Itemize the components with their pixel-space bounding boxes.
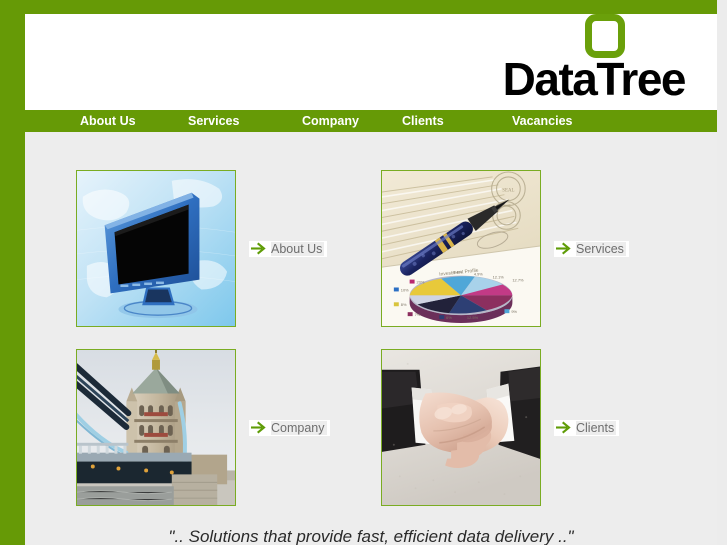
arrow-right-icon: [555, 421, 572, 434]
svg-text:7%: 7%: [415, 312, 421, 317]
tile-link-clients[interactable]: Clients: [554, 420, 619, 436]
tagline: ".. Solutions that provide fast, efficie…: [25, 527, 717, 545]
svg-text:4.9%: 4.9%: [474, 272, 483, 277]
tile-about-us: About Us: [76, 170, 381, 327]
tile-link-services[interactable]: Services: [554, 241, 629, 257]
nav-item-vacancies[interactable]: Vacancies: [512, 115, 572, 128]
nav-item-services[interactable]: Services: [188, 115, 302, 128]
arrow-right-icon: [555, 242, 572, 255]
page-root: DataTree About Us Services Company Clien…: [0, 0, 727, 545]
tile-link-company[interactable]: Company: [249, 420, 330, 436]
svg-text:20%: 20%: [417, 280, 425, 285]
thumbnail-handshake[interactable]: [381, 349, 541, 506]
tile-label-clients: Clients: [576, 421, 616, 435]
tile-row: Company: [76, 349, 686, 506]
arrow-right-icon: [250, 242, 267, 255]
left-green-bar: [0, 0, 25, 545]
main-navigation: About Us Services Company Clients Vacanc…: [25, 110, 717, 132]
nav-item-about-us[interactable]: About Us: [80, 115, 188, 128]
green-rounded-square-icon: [585, 14, 625, 58]
svg-text:10%: 10%: [401, 287, 409, 292]
tile-label-services: Services: [576, 242, 626, 256]
tile-grid: About Us: [76, 170, 686, 506]
logo-wordmark: DataTree: [503, 56, 685, 102]
tile-clients: Clients: [381, 349, 686, 506]
nav-item-clients[interactable]: Clients: [402, 115, 512, 128]
svg-text:SEAL: SEAL: [502, 189, 514, 194]
svg-text:6.4%: 6.4%: [453, 270, 462, 275]
tile-company: Company: [76, 349, 381, 506]
thumbnail-monitor[interactable]: [76, 170, 236, 327]
nav-item-company[interactable]: Company: [302, 115, 402, 128]
thumbnail-tower-bridge[interactable]: [76, 349, 236, 506]
tile-label-about-us: About Us: [271, 242, 324, 256]
right-gutter: [717, 0, 727, 545]
tile-link-about-us[interactable]: About Us: [249, 241, 327, 257]
site-header: DataTree: [25, 14, 717, 110]
top-green-bar: [0, 0, 717, 14]
svg-text:12.1%: 12.1%: [493, 275, 505, 280]
tile-row: About Us: [76, 170, 686, 327]
thumbnail-pen-documents[interactable]: SEAL Investment Profile: [381, 170, 541, 327]
main-content: About Us: [25, 132, 717, 545]
svg-text:9%: 9%: [511, 309, 517, 314]
svg-text:12.5%: 12.5%: [467, 315, 479, 320]
tile-services: SEAL Investment Profile: [381, 170, 686, 327]
arrow-right-icon: [250, 421, 267, 434]
svg-text:12.7%: 12.7%: [512, 278, 524, 283]
site-logo[interactable]: DataTree: [503, 24, 685, 102]
tile-label-company: Company: [271, 421, 327, 435]
svg-text:8%: 8%: [401, 302, 407, 307]
svg-text:6%: 6%: [446, 315, 452, 320]
